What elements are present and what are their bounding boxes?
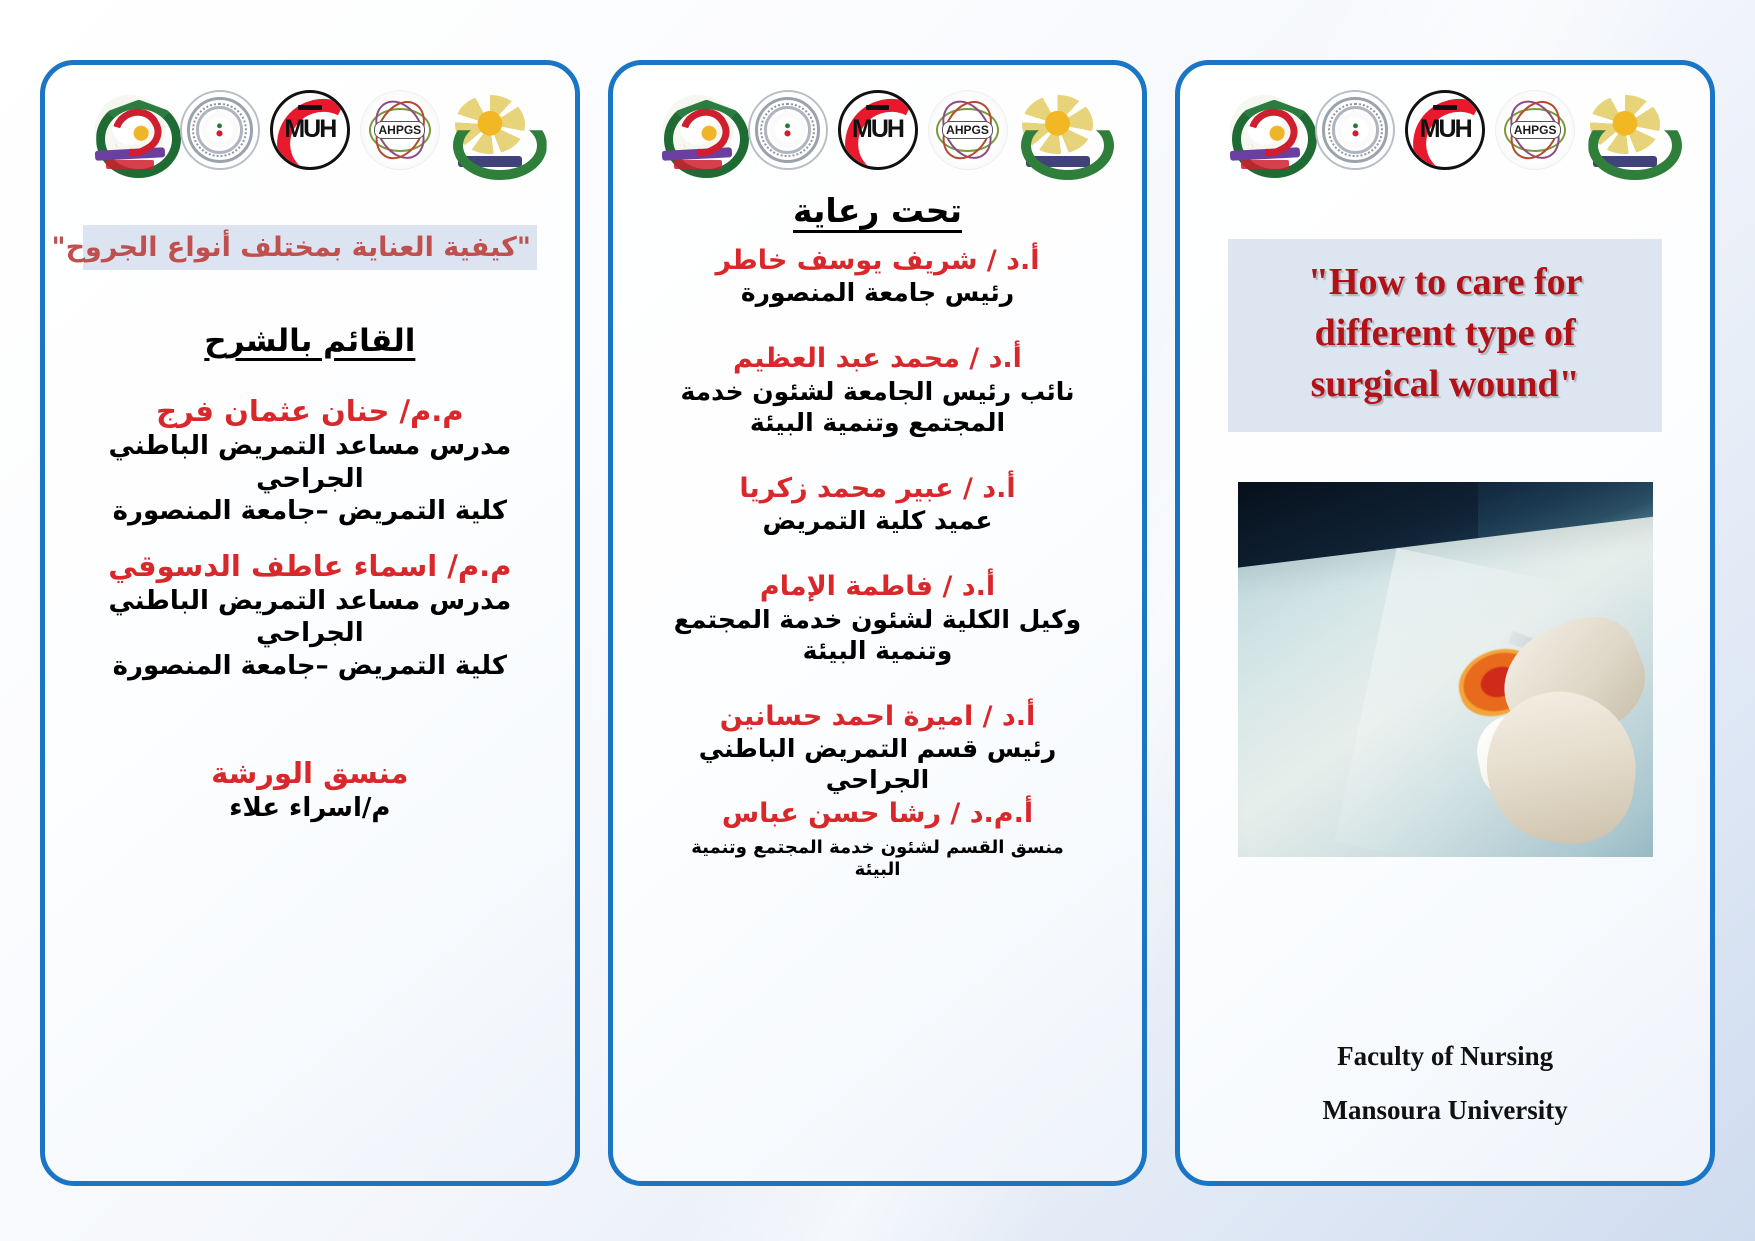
faculty-footer-line2: Mansoura University <box>1323 1083 1568 1137</box>
patron-entry: أ.د / اميرة احمد حسانين رئيس قسم التمريض… <box>641 700 1115 795</box>
english-title-line2: different type of <box>1238 308 1652 359</box>
patron-entry: أ.د / فاطمة الإمام وكيل الكلية لشئون خدم… <box>641 570 1115 665</box>
patron-name: أ.م.د / رشا حسن عباس <box>641 797 1115 830</box>
faculty-footer-line1: Faculty of Nursing <box>1323 1029 1568 1083</box>
muh-logo: MUH <box>838 90 918 170</box>
faculty-of-nursing-seal-logo <box>180 90 260 170</box>
presenter-entry: م.م/ حنان عثمان فرج مدرس مساعد التمريض ا… <box>77 394 543 527</box>
presenter-affiliation: كلية التمريض –جامعة المنصورة <box>77 650 543 682</box>
ahpgs-logo: AHPGS <box>1495 90 1575 170</box>
coordinator-block: منسق الورشة م/اسراء علاء <box>77 756 543 824</box>
patron-name: أ.د / محمد عبد العظيم <box>641 342 1115 375</box>
patron-role-line2: المجتمع وتنمية البيئة <box>641 407 1115 438</box>
panel-left: MUH AHPGS "كيفية العناية بمختلف أنواع ال… <box>40 60 580 1186</box>
presenter-entry: م.م/ اسماء عاطف الدسوقي مدرس مساعد التمر… <box>77 549 543 682</box>
presenter-role-line1: مدرس مساعد التمريض الباطني <box>77 430 543 462</box>
patron-role-line2: وتنمية البيئة <box>641 635 1115 666</box>
coordinator-name: م/اسراء علاء <box>77 792 543 824</box>
english-title-line3: surgical wound" <box>1238 359 1652 410</box>
patron-role-line2: البيئة <box>641 859 1115 881</box>
mansoura-university-crest-logo <box>1225 90 1305 170</box>
coordinator-heading: منسق الورشة <box>77 756 543 792</box>
muh-logo: MUH <box>1405 90 1485 170</box>
patron-entry: أ.د / شريف يوسف خاطر رئيس جامعة المنصورة <box>641 244 1115 308</box>
panel-middle: MUH AHPGS تحت رعاية أ.د / شريف يوسف خاطر… <box>608 60 1148 1186</box>
presenter-role-line2: الجراحي <box>77 463 543 495</box>
brochure-trifold: MUH AHPGS "كيفية العناية بمختلف أنواع ال… <box>0 0 1755 1241</box>
patron-entry: أ.د / عبير محمد زكريا عميد كلية التمريض <box>641 472 1115 536</box>
english-title-line1: "How to care for <box>1238 257 1652 308</box>
workshop-title-banner: "كيفية العناية بمختلف أنواع الجروح" <box>83 225 537 270</box>
mansoura-university-crest-logo <box>658 90 738 170</box>
patron-role-line1: نائب رئيس الجامعة لشئون خدمة <box>641 376 1115 407</box>
patronage-heading: تحت رعاية <box>641 191 1115 232</box>
english-title-banner: "How to care for different type of surgi… <box>1228 239 1662 432</box>
mansoura-university-emblem-logo <box>1585 90 1665 170</box>
patron-role-line1: منسق القسم لشئون خدمة المجتمع وتنمية <box>641 837 1115 859</box>
patron-name: أ.د / فاطمة الإمام <box>641 570 1115 603</box>
panel-right: MUH AHPGS "How to care for different typ… <box>1175 60 1715 1186</box>
mansoura-university-emblem-logo <box>1018 90 1098 170</box>
faculty-of-nursing-seal-logo <box>1315 90 1395 170</box>
mansoura-university-emblem-logo <box>450 90 530 170</box>
faculty-footer: Faculty of Nursing Mansoura University <box>1323 1029 1568 1137</box>
patronage-section: تحت رعاية أ.د / شريف يوسف خاطر رئيس جامع… <box>631 191 1125 881</box>
patron-entry: أ.د / محمد عبد العظيم نائب رئيس الجامعة … <box>641 342 1115 437</box>
workshop-title-arabic: "كيفية العناية بمختلف أنواع الجروح" <box>89 232 531 263</box>
patron-role-line1: رئيس جامعة المنصورة <box>641 277 1115 308</box>
patron-role-line1: رئيس قسم التمريض الباطني <box>641 733 1115 764</box>
ahpgs-logo: AHPGS <box>360 90 440 170</box>
patron-role-line1: عميد كلية التمريض <box>641 505 1115 536</box>
patron-name: أ.د / شريف يوسف خاطر <box>641 244 1115 277</box>
presenters-list: م.م/ حنان عثمان فرج مدرس مساعد التمريض ا… <box>63 360 557 824</box>
logo-row-right: MUH AHPGS <box>1198 87 1692 173</box>
patron-name: أ.د / عبير محمد زكريا <box>641 472 1115 505</box>
muh-logo: MUH <box>270 90 350 170</box>
presenter-name: م.م/ اسماء عاطف الدسوقي <box>77 549 543 585</box>
ahpgs-logo: AHPGS <box>928 90 1008 170</box>
patron-entry-last: أ.م.د / رشا حسن عباس منسق القسم لشئون خد… <box>641 797 1115 881</box>
patron-name: أ.د / اميرة احمد حسانين <box>641 700 1115 733</box>
logo-row-middle: MUH AHPGS <box>631 87 1125 173</box>
mansoura-university-crest-logo <box>90 90 170 170</box>
patron-role-line1: وكيل الكلية لشئون خدمة المجتمع <box>641 604 1115 635</box>
presenter-role-line2: الجراحي <box>77 617 543 649</box>
faculty-of-nursing-seal-logo <box>748 90 828 170</box>
patron-role-line2: الجراحي <box>641 764 1115 795</box>
presenter-heading: القائم بالشرح <box>204 322 415 360</box>
logo-row-left: MUH AHPGS <box>63 87 557 173</box>
surgical-wound-care-photo <box>1238 482 1653 857</box>
presenter-role-line1: مدرس مساعد التمريض الباطني <box>77 585 543 617</box>
presenter-affiliation: كلية التمريض –جامعة المنصورة <box>77 495 543 527</box>
presenter-name: م.م/ حنان عثمان فرج <box>77 394 543 430</box>
